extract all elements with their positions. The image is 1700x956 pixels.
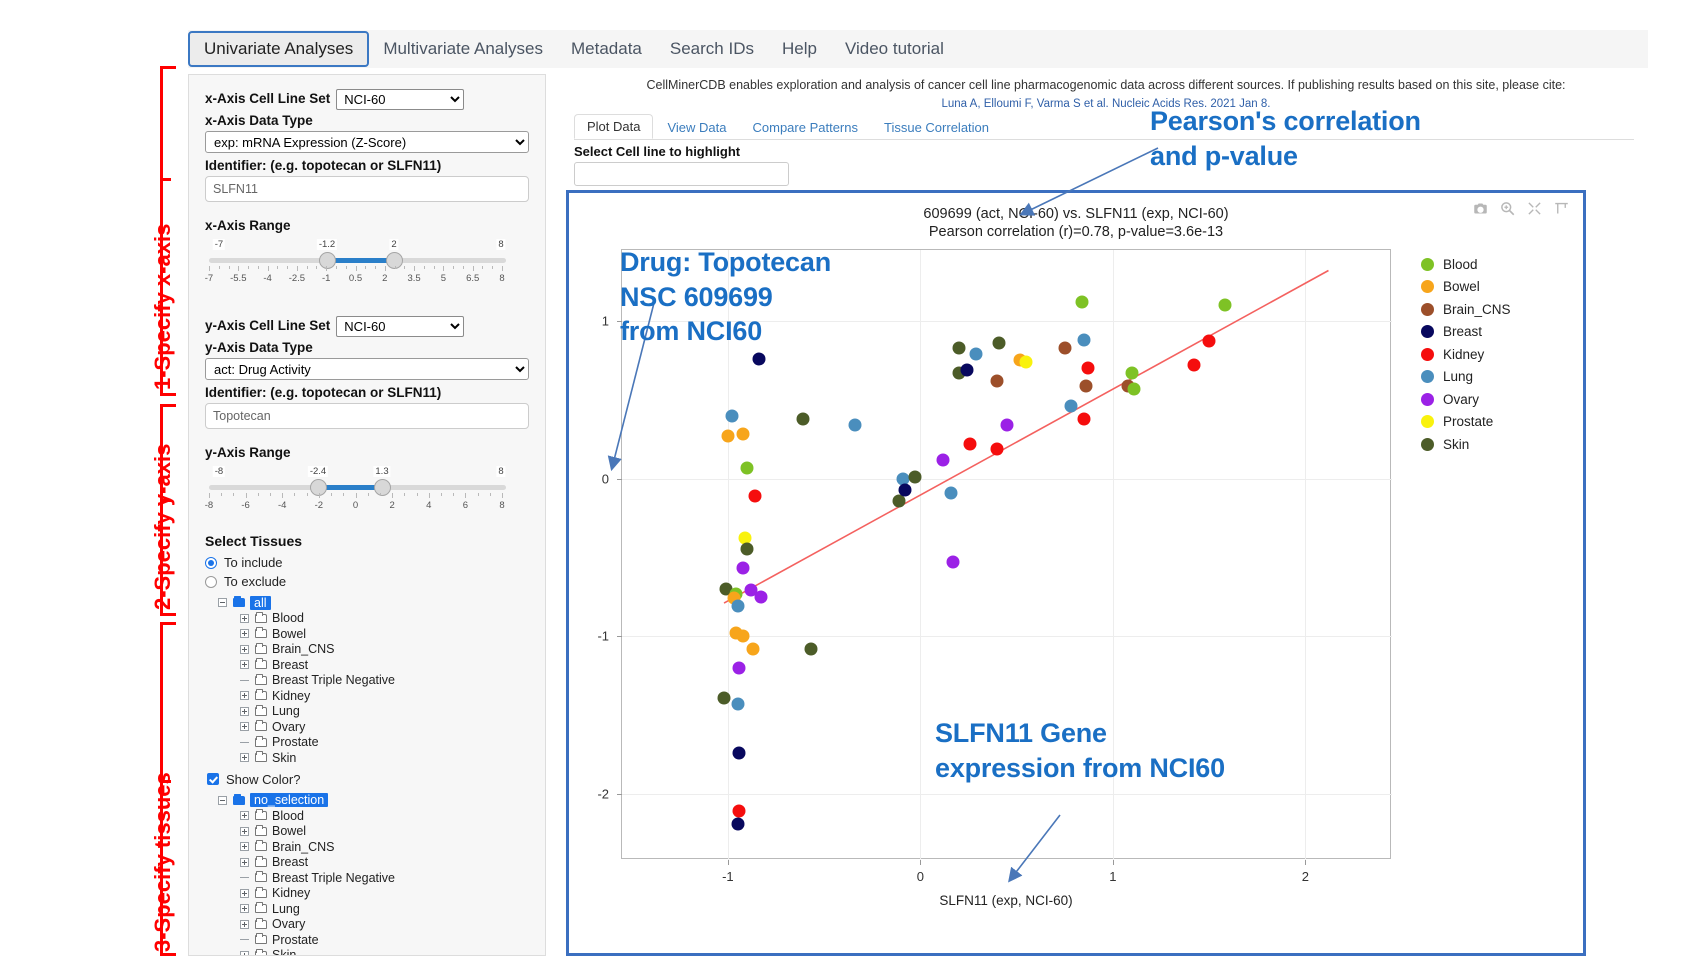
expand-root-include-icon[interactable] xyxy=(211,598,233,607)
slider-minor-tick xyxy=(490,493,491,496)
y-tick-label: 0 xyxy=(602,471,616,486)
slider-minor-tick xyxy=(346,266,347,269)
legend-item-prostate[interactable]: Prostate xyxy=(1421,411,1511,434)
tree-item-breast[interactable]: Breast xyxy=(211,855,529,871)
slider-ticklabel: 8 xyxy=(499,500,504,511)
expand-icon[interactable] xyxy=(233,753,255,762)
tree-item-label: Bowel xyxy=(272,627,306,641)
radio-include-dot xyxy=(205,557,217,569)
expand-icon[interactable] xyxy=(233,858,255,867)
callout-gene: SLFN11 Gene expression from NCI60 xyxy=(935,716,1225,785)
tree-item-blood[interactable]: Blood xyxy=(211,611,529,627)
legend-swatch-icon xyxy=(1421,348,1434,361)
tree-item-bowel[interactable]: Bowel xyxy=(211,626,529,642)
x-identifier-label: Identifier: (e.g. topotecan or SLFN11) xyxy=(205,158,529,173)
folder-icon xyxy=(255,951,267,956)
scatter-point[interactable] xyxy=(970,348,983,361)
scatter-point[interactable] xyxy=(908,470,921,483)
tree-item-ovary[interactable]: Ovary xyxy=(211,719,529,735)
y-slider-fill xyxy=(318,485,382,490)
folder-icon xyxy=(255,707,267,716)
legend-label: Skin xyxy=(1443,437,1469,452)
tree-item-bowel[interactable]: Bowel xyxy=(211,824,529,840)
y-cellline-row: y-Axis Cell Line Set NCI-60 xyxy=(205,316,529,337)
expand-root-exclude-icon[interactable] xyxy=(211,796,233,805)
y-datatype-select[interactable]: act: Drug Activity xyxy=(205,358,529,380)
slider-tickmark xyxy=(502,266,503,271)
legend-item-ovary[interactable]: Ovary xyxy=(1421,388,1511,411)
x-slider-ticks: -7-5.5-4-2.5-10.523.556.58 xyxy=(205,266,510,286)
x-identifier-input[interactable] xyxy=(205,176,529,202)
step3-label: 3-Specify tissues xyxy=(150,772,176,952)
expand-icon[interactable] xyxy=(233,722,255,731)
folder-icon xyxy=(233,796,245,805)
legend-label: Kidney xyxy=(1443,347,1484,362)
tree-leaf-dash xyxy=(233,939,255,940)
slider-minor-tick xyxy=(463,266,464,269)
tree-item-label: Kidney xyxy=(272,689,310,703)
slider-tickmark xyxy=(268,266,269,271)
slider-tickmark xyxy=(319,493,320,498)
legend-swatch-icon xyxy=(1421,280,1434,293)
y-range-high-value: 1.3 xyxy=(373,466,390,477)
slider-minor-tick xyxy=(343,493,344,496)
tree-item-label: Blood xyxy=(272,809,304,823)
slider-tickmark xyxy=(356,266,357,271)
tree-item-label: Prostate xyxy=(272,933,319,947)
tree-item-lung[interactable]: Lung xyxy=(211,901,529,917)
folder-icon xyxy=(255,858,267,867)
tree-item-label: Blood xyxy=(272,611,304,625)
subtab-compare-patterns[interactable]: Compare Patterns xyxy=(741,116,871,139)
tree-item-kidney[interactable]: Kidney xyxy=(211,886,529,902)
nav-tab-multivariate-analyses[interactable]: Multivariate Analyses xyxy=(369,30,557,68)
y-range-max-edge: 8 xyxy=(496,466,505,477)
scatter-point[interactable] xyxy=(1187,359,1200,372)
scatter-point[interactable] xyxy=(960,363,973,376)
radio-exclude-label: To exclude xyxy=(224,574,286,589)
legend-label: Prostate xyxy=(1443,414,1493,429)
x-datatype-select[interactable]: exp: mRNA Expression (Z-Score) xyxy=(205,131,529,153)
slider-tickmark xyxy=(326,266,327,271)
slider-minor-tick xyxy=(307,266,308,269)
tree-item-label: Skin xyxy=(272,751,296,765)
slider-ticklabel: -4 xyxy=(278,500,286,511)
scatter-point[interactable] xyxy=(1001,418,1014,431)
slider-minor-tick xyxy=(307,493,308,496)
tree-item-label: Breast xyxy=(272,855,308,869)
slider-tickmark xyxy=(443,266,444,271)
legend-label: Blood xyxy=(1443,257,1478,272)
slider-tickmark xyxy=(297,266,298,271)
highlight-cellline-input[interactable] xyxy=(574,162,789,186)
x-range-low-value: -1.2 xyxy=(317,239,337,250)
expand-icon[interactable] xyxy=(233,951,255,956)
x-cellline-label: x-Axis Cell Line Set xyxy=(205,91,330,106)
folder-icon xyxy=(255,753,267,762)
tree-root-exclude-label: no_selection xyxy=(250,793,328,807)
slider-ticklabel: 2 xyxy=(382,273,387,284)
slider-tickmark xyxy=(414,266,415,271)
select-tissues-heading: Select Tissues xyxy=(205,533,529,549)
expand-icon[interactable] xyxy=(233,660,255,669)
y-tick-label: -2 xyxy=(597,786,616,801)
scatter-point[interactable] xyxy=(731,600,744,613)
slider-ticklabel: -4 xyxy=(263,273,271,284)
scatter-point[interactable] xyxy=(993,336,1006,349)
scatter-point[interactable] xyxy=(741,543,754,556)
tree-item-label: Breast Triple Negative xyxy=(272,871,395,885)
x-cellline-select[interactable]: NCI-60 xyxy=(336,89,464,110)
y-tick-label: 1 xyxy=(602,313,616,328)
slider-minor-tick xyxy=(441,493,442,496)
slider-tickmark xyxy=(429,493,430,498)
nav-tab-metadata[interactable]: Metadata xyxy=(557,30,656,68)
y-cellline-select[interactable]: NCI-60 xyxy=(336,316,464,337)
folder-icon xyxy=(255,827,267,836)
tissue-tree-include[interactable]: all BloodBowelBrain_CNSBreastBreast Trip… xyxy=(211,595,529,766)
tree-item-label: Lung xyxy=(272,704,300,718)
x-range-max-edge: 8 xyxy=(496,239,505,250)
folder-icon xyxy=(255,811,267,820)
checkbox-icon xyxy=(207,773,219,785)
nav-tab-search-ids[interactable]: Search IDs xyxy=(656,30,768,68)
x-axis-label: SLFN11 (exp, NCI-60) xyxy=(621,893,1391,908)
scatter-point[interactable] xyxy=(964,437,977,450)
scatter-point[interactable] xyxy=(733,661,746,674)
callout-drug: Drug: Topotecan NSC 609699 from NCI60 xyxy=(620,245,831,349)
slider-tickmark xyxy=(209,493,210,498)
slider-ticklabel: -5.5 xyxy=(230,273,246,284)
slider-minor-tick xyxy=(375,266,376,269)
tree-item-label: Ovary xyxy=(272,720,305,734)
radio-to-exclude[interactable]: To exclude xyxy=(205,574,529,589)
y-range-low-value: -2.4 xyxy=(308,466,328,477)
expand-icon[interactable] xyxy=(233,842,255,851)
scatter-point[interactable] xyxy=(1020,355,1033,368)
slider-tickmark xyxy=(473,266,474,271)
tree-item-breast-triple-negative[interactable]: Breast Triple Negative xyxy=(211,870,529,886)
scatter-point[interactable] xyxy=(991,442,1004,455)
tree-item-label: Kidney xyxy=(272,886,310,900)
scatter-point[interactable] xyxy=(945,486,958,499)
legend-item-skin[interactable]: Skin xyxy=(1421,433,1511,456)
scatter-point[interactable] xyxy=(952,341,965,354)
legend-label: Brain_CNS xyxy=(1443,302,1511,317)
slider-ticklabel: -2 xyxy=(315,500,323,511)
folder-icon xyxy=(255,676,267,685)
radio-to-include[interactable]: To include xyxy=(205,555,529,570)
x-tick-label: 2 xyxy=(1302,869,1309,884)
tree-leaf-dash xyxy=(233,877,255,878)
radio-exclude-dot xyxy=(205,576,217,588)
folder-icon xyxy=(255,920,267,929)
tree-item-skin[interactable]: Skin xyxy=(211,750,529,766)
slider-ticklabel: -1 xyxy=(322,273,330,284)
slider-ticklabel: -6 xyxy=(241,500,249,511)
scatter-point[interactable] xyxy=(731,697,744,710)
scatter-point[interactable] xyxy=(898,483,911,496)
step2-label: 2-Specify y-axis xyxy=(150,444,176,610)
scatter-point[interactable] xyxy=(1076,296,1089,309)
expand-icon[interactable] xyxy=(233,645,255,654)
x-tickmark xyxy=(728,860,729,865)
slider-tickmark xyxy=(246,493,247,498)
scatter-point[interactable] xyxy=(725,409,738,422)
y-slider-ticks: -8-6-4-202468 xyxy=(205,493,510,513)
slider-minor-tick xyxy=(424,266,425,269)
folder-icon xyxy=(255,935,267,944)
tree-item-blood[interactable]: Blood xyxy=(211,808,529,824)
scatter-point[interactable] xyxy=(1058,341,1071,354)
legend-swatch-icon xyxy=(1421,393,1434,406)
folder-icon xyxy=(255,904,267,913)
slider-minor-tick xyxy=(492,266,493,269)
x-tick-label: 1 xyxy=(1109,869,1116,884)
step1-tick xyxy=(160,178,171,181)
expand-icon[interactable] xyxy=(233,889,255,898)
subtab-tissue-correlation[interactable]: Tissue Correlation xyxy=(872,116,1001,139)
tree-item-prostate[interactable]: Prostate xyxy=(211,932,529,948)
slider-minor-tick xyxy=(368,493,369,496)
slider-minor-tick xyxy=(229,266,230,269)
slider-minor-tick xyxy=(270,493,271,496)
scatter-point[interactable] xyxy=(1078,412,1091,425)
scatter-point[interactable] xyxy=(733,805,746,818)
tissue-tree-exclude[interactable]: no_selection BloodBowelBrain_CNSBreastBr… xyxy=(211,793,529,956)
legend-item-breast[interactable]: Breast xyxy=(1421,321,1511,344)
tree-item-label: Ovary xyxy=(272,917,305,931)
show-color-checkbox[interactable]: Show Color? xyxy=(207,772,529,787)
slider-minor-tick xyxy=(417,493,418,496)
y-cellline-label: y-Axis Cell Line Set xyxy=(205,318,330,333)
slider-tickmark xyxy=(392,493,393,498)
slider-ticklabel: 5 xyxy=(441,273,446,284)
legend-swatch-icon xyxy=(1421,370,1434,383)
expand-icon[interactable] xyxy=(233,691,255,700)
slider-minor-tick xyxy=(434,266,435,269)
y-identifier-label: Identifier: (e.g. topotecan or SLFN11) xyxy=(205,385,529,400)
slider-minor-tick xyxy=(221,493,222,496)
expand-icon[interactable] xyxy=(233,827,255,836)
tree-item-breast-triple-negative[interactable]: Breast Triple Negative xyxy=(211,673,529,689)
y-identifier-input[interactable] xyxy=(205,403,529,429)
subtab-plot-data[interactable]: Plot Data xyxy=(574,114,653,139)
plot-subtitle: Pearson correlation (r)=0.78, p-value=3.… xyxy=(569,223,1583,241)
tree-item-breast[interactable]: Breast xyxy=(211,657,529,673)
slider-minor-tick xyxy=(453,266,454,269)
y-range-slider[interactable]: -8 8 -2.4 1.3 -8-6-4-202468 xyxy=(205,463,510,517)
tree-leaf-dash xyxy=(233,680,255,681)
x-tick-label: -1 xyxy=(722,869,734,884)
slider-minor-tick xyxy=(404,266,405,269)
slider-ticklabel: -2.5 xyxy=(289,273,305,284)
scatter-point[interactable] xyxy=(1126,366,1139,379)
slider-minor-tick xyxy=(258,266,259,269)
legend-swatch-icon xyxy=(1421,438,1434,451)
slider-tickmark xyxy=(209,266,210,271)
tree-root-include[interactable]: all xyxy=(211,595,529,611)
x-range-min-edge: -7 xyxy=(213,239,225,250)
tree-item-brain-cns[interactable]: Brain_CNS xyxy=(211,642,529,658)
scatter-point[interactable] xyxy=(741,461,754,474)
slider-tickmark xyxy=(385,266,386,271)
scatter-point[interactable] xyxy=(796,412,809,425)
scatter-point[interactable] xyxy=(718,691,731,704)
tree-root-exclude[interactable]: no_selection xyxy=(211,793,529,809)
slider-minor-tick xyxy=(380,493,381,496)
slider-minor-tick xyxy=(365,266,366,269)
y-range-min-edge: -8 xyxy=(213,466,225,477)
scatter-point[interactable] xyxy=(737,562,750,575)
tree-item-label: Breast xyxy=(272,658,308,672)
slider-ticklabel: 6.5 xyxy=(466,273,479,284)
slider-minor-tick xyxy=(331,493,332,496)
tree-item-brain-cns[interactable]: Brain_CNS xyxy=(211,839,529,855)
scatter-point[interactable] xyxy=(737,630,750,643)
tree-item-label: Breast Triple Negative xyxy=(272,673,395,687)
x-tickmark xyxy=(1113,860,1114,865)
legend-item-lung[interactable]: Lung xyxy=(1421,366,1511,389)
scatter-point[interactable] xyxy=(1218,299,1231,312)
slider-ticklabel: 8 xyxy=(499,273,504,284)
scatter-point[interactable] xyxy=(754,590,767,603)
legend-item-kidney[interactable]: Kidney xyxy=(1421,343,1511,366)
scatter-point[interactable] xyxy=(1081,362,1094,375)
y-datatype-label: y-Axis Data Type xyxy=(205,340,529,355)
show-color-label: Show Color? xyxy=(226,772,300,787)
x-range-label: x-Axis Range xyxy=(205,218,529,233)
scatter-point[interactable] xyxy=(848,418,861,431)
tree-item-label: Bowel xyxy=(272,824,306,838)
folder-icon xyxy=(255,629,267,638)
legend-item-brain_cns[interactable]: Brain_CNS xyxy=(1421,298,1511,321)
plot-legend[interactable]: BloodBowelBrain_CNSBreastKidneyLungOvary… xyxy=(1421,253,1511,456)
cite-text: CellMinerCDB enables exploration and ana… xyxy=(566,76,1646,94)
slider-tickmark xyxy=(238,266,239,271)
tree-leaf-dash xyxy=(233,742,255,743)
slider-tickmark xyxy=(502,493,503,498)
slider-minor-tick xyxy=(248,266,249,269)
folder-icon xyxy=(255,660,267,669)
expand-icon[interactable] xyxy=(233,629,255,638)
folder-icon xyxy=(255,889,267,898)
x-tickmark xyxy=(1305,860,1306,865)
scatter-point[interactable] xyxy=(1064,400,1077,413)
tree-item-skin[interactable]: Skin xyxy=(211,948,529,956)
scatter-point[interactable] xyxy=(731,817,744,830)
expand-icon[interactable] xyxy=(233,920,255,929)
slider-ticklabel: -8 xyxy=(205,500,213,511)
y-range-label: y-Axis Range xyxy=(205,445,529,460)
tree-item-kidney[interactable]: Kidney xyxy=(211,688,529,704)
tree-root-include-label: all xyxy=(250,596,271,610)
scatter-point[interactable] xyxy=(1079,379,1092,392)
folder-icon xyxy=(233,598,245,607)
scatter-point[interactable] xyxy=(937,453,950,466)
scatter-point[interactable] xyxy=(748,489,761,502)
nav-tab-univariate-analyses[interactable]: Univariate Analyses xyxy=(188,31,369,67)
slider-minor-tick xyxy=(294,493,295,496)
expand-icon[interactable] xyxy=(233,904,255,913)
slider-minor-tick xyxy=(258,493,259,496)
expand-icon[interactable] xyxy=(233,614,255,623)
slider-tickmark xyxy=(282,493,283,498)
slider-ticklabel: 2 xyxy=(389,500,394,511)
slider-ticklabel: 4 xyxy=(426,500,431,511)
nav-tab-help[interactable]: Help xyxy=(768,30,831,68)
scatter-point[interactable] xyxy=(746,642,759,655)
slider-ticklabel: -7 xyxy=(205,273,213,284)
tree-item-prostate[interactable]: Prostate xyxy=(211,735,529,751)
expand-icon[interactable] xyxy=(233,707,255,716)
slider-tickmark xyxy=(465,493,466,498)
tree-item-label: Brain_CNS xyxy=(272,840,335,854)
scatter-point[interactable] xyxy=(1128,382,1141,395)
subtab-view-data[interactable]: View Data xyxy=(655,116,738,139)
plot-subtabs[interactable]: Plot DataView DataCompare PatternsTissue… xyxy=(574,114,1634,140)
slider-minor-tick xyxy=(277,266,278,269)
slider-minor-tick xyxy=(478,493,479,496)
highlight-label: Select Cell line to highlight xyxy=(574,144,740,159)
slider-minor-tick xyxy=(404,493,405,496)
legend-label: Breast xyxy=(1443,324,1482,339)
slider-ticklabel: 0 xyxy=(353,500,358,511)
scatter-point[interactable] xyxy=(804,642,817,655)
folder-icon xyxy=(255,614,267,623)
slider-ticklabel: 3.5 xyxy=(407,273,420,284)
legend-swatch-icon xyxy=(1421,325,1434,338)
scatter-point[interactable] xyxy=(1078,333,1091,346)
legend-item-bowel[interactable]: Bowel xyxy=(1421,276,1511,299)
scatter-point[interactable] xyxy=(1203,335,1216,348)
scatter-point[interactable] xyxy=(947,556,960,569)
scatter-point[interactable] xyxy=(991,374,1004,387)
slider-minor-tick xyxy=(316,266,317,269)
expand-icon[interactable] xyxy=(233,811,255,820)
tree-item-lung[interactable]: Lung xyxy=(211,704,529,720)
slider-ticklabel: 6 xyxy=(463,500,468,511)
folder-icon xyxy=(255,842,267,851)
scatter-point[interactable] xyxy=(733,746,746,759)
folder-icon xyxy=(255,873,267,882)
legend-swatch-icon xyxy=(1421,258,1434,271)
tree-item-label: Skin xyxy=(272,948,296,956)
x-cellline-row: x-Axis Cell Line Set NCI-60 xyxy=(205,89,529,110)
scatter-point[interactable] xyxy=(737,428,750,441)
tree-item-label: Prostate xyxy=(272,735,319,749)
nav-tab-video-tutorial[interactable]: Video tutorial xyxy=(831,30,958,68)
slider-ticklabel: 0.5 xyxy=(349,273,362,284)
x-slider-fill xyxy=(327,258,394,263)
folder-icon xyxy=(255,722,267,731)
legend-item-blood[interactable]: Blood xyxy=(1421,253,1511,276)
slider-minor-tick xyxy=(482,266,483,269)
scatter-point[interactable] xyxy=(752,352,765,365)
slider-minor-tick xyxy=(287,266,288,269)
control-panel: x-Axis Cell Line Set NCI-60 x-Axis Data … xyxy=(188,74,546,956)
x-datatype-label: x-Axis Data Type xyxy=(205,113,529,128)
folder-icon xyxy=(255,738,267,747)
folder-icon xyxy=(255,645,267,654)
slider-tickmark xyxy=(356,493,357,498)
tree-item-label: Lung xyxy=(272,902,300,916)
main-nav-tabs[interactable]: Univariate AnalysesMultivariate Analyses… xyxy=(188,30,1648,68)
callout-pearson: Pearson's correlation and p-value xyxy=(1150,104,1421,173)
scatter-point[interactable] xyxy=(721,429,734,442)
tree-item-ovary[interactable]: Ovary xyxy=(211,917,529,933)
x-range-slider[interactable]: -7 8 -1.2 2 -7-5.5-4-2.5-10.523.556.58 xyxy=(205,236,510,290)
